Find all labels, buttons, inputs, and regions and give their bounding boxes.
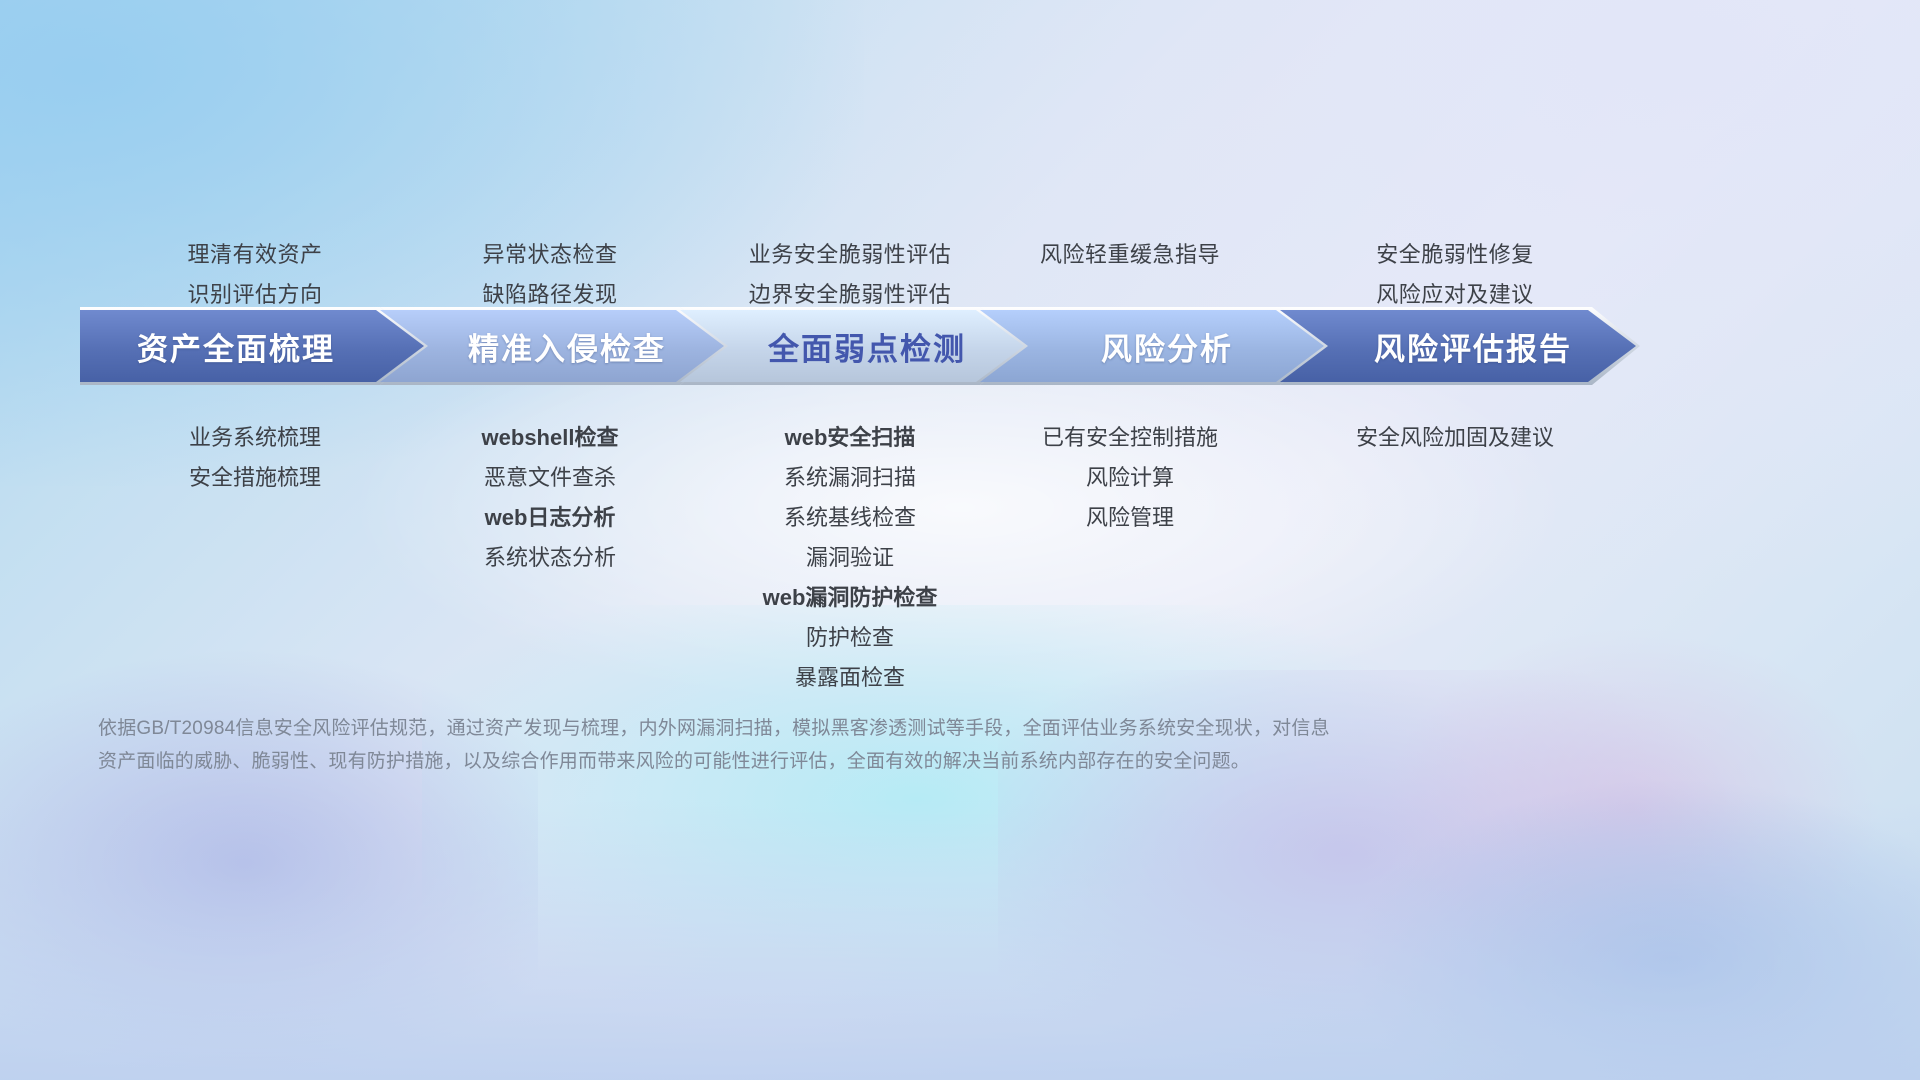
footer-description: 依据GB/T20984信息安全风险评估规范，通过资产发现与梳理，内外网漏洞扫描，… — [98, 712, 1638, 778]
bottom-item: 漏洞验证 — [650, 538, 1050, 578]
stage-label: 精准入侵检查 — [380, 324, 728, 369]
bottom-item: 安全措施梳理 — [80, 458, 430, 498]
bottom-item: 风险计算 — [955, 458, 1305, 498]
stage-label: 资产全面梳理 — [80, 324, 428, 369]
stage-label: 风险评估报告 — [1280, 324, 1640, 369]
stage-chevron-weakness-detection[interactable]: 全面弱点检测 — [680, 307, 1028, 385]
chevron-band: 资产全面梳理 精准入侵检查 全面弱点检测 风险分析 风险评估报告 — [80, 307, 1840, 385]
bottom-item: 防护检查 — [650, 618, 1050, 658]
stage-top-items-4: 安全脆弱性修复风险应对及建议 — [1255, 235, 1655, 315]
process-flow-diagram: 理清有效资产识别评估方向 异常状态检查缺陷路径发现 业务安全脆弱性评估边界安全脆… — [0, 0, 1920, 1080]
bottom-item: 已有安全控制措施 — [955, 418, 1305, 458]
stage-chevron-risk-report[interactable]: 风险评估报告 — [1280, 307, 1640, 385]
bottom-item: web漏洞防护检查 — [650, 578, 1050, 618]
top-item: 风险轻重缓急指导 — [955, 235, 1305, 275]
stage-bottom-items-4: 安全风险加固及建议 — [1255, 418, 1655, 458]
top-item: 理清有效资产 — [80, 235, 430, 275]
stage-label: 全面弱点检测 — [680, 324, 1028, 369]
footer-line-1: 依据GB/T20984信息安全风险评估规范，通过资产发现与梳理，内外网漏洞扫描，… — [98, 712, 1638, 745]
stage-top-items-3: 风险轻重缓急指导 — [955, 235, 1305, 275]
footer-line-2: 资产面临的威胁、脆弱性、现有防护措施，以及综合作用而带来风险的可能性进行评估，全… — [98, 745, 1638, 778]
stage-top-items-0: 理清有效资产识别评估方向 — [80, 235, 430, 315]
bottom-item: 风险管理 — [955, 498, 1305, 538]
stage-bottom-items-3: 已有安全控制措施风险计算风险管理 — [955, 418, 1305, 538]
top-item: 安全脆弱性修复 — [1255, 235, 1655, 275]
stage-chevron-intrusion-check[interactable]: 精准入侵检查 — [380, 307, 728, 385]
stage-chevron-asset-sorting[interactable]: 资产全面梳理 — [80, 307, 428, 385]
stage-chevron-risk-analysis[interactable]: 风险分析 — [980, 307, 1328, 385]
bottom-item: 业务系统梳理 — [80, 418, 430, 458]
stage-label: 风险分析 — [980, 324, 1328, 369]
bottom-item: 安全风险加固及建议 — [1255, 418, 1655, 458]
bottom-item: 暴露面检查 — [650, 658, 1050, 698]
stage-bottom-items-0: 业务系统梳理安全措施梳理 — [80, 418, 430, 498]
